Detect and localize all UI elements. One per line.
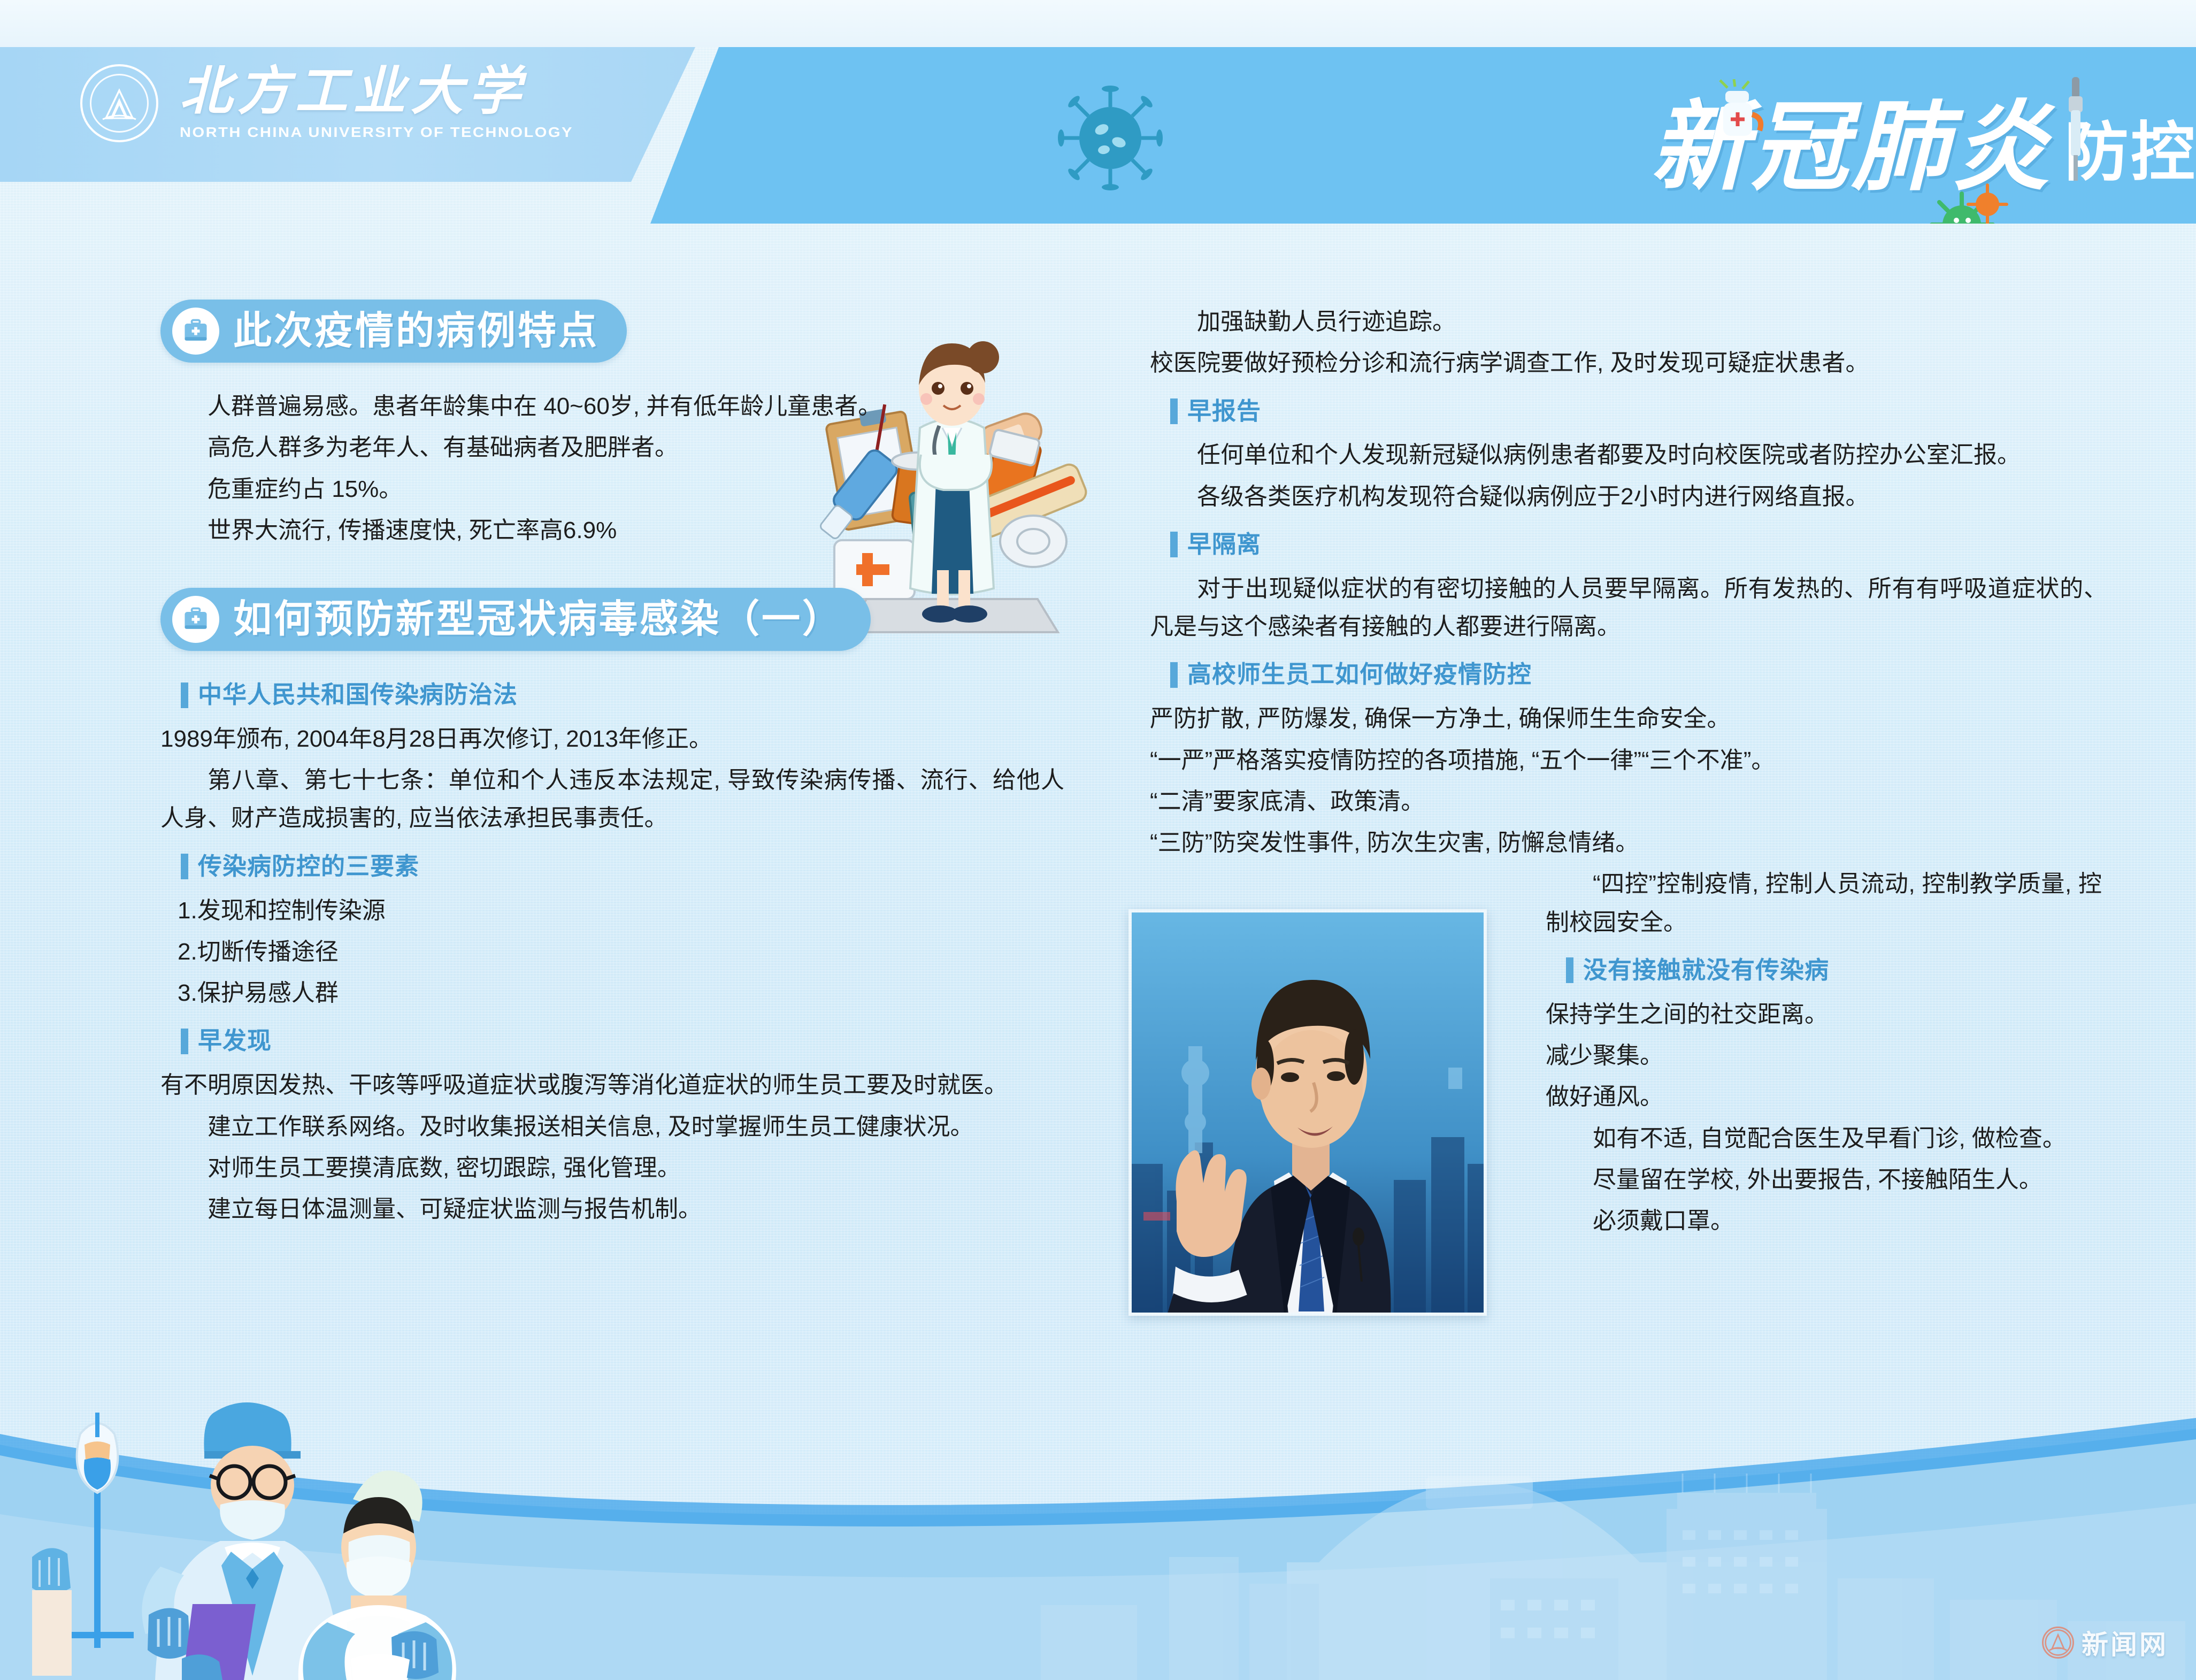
paragraph: 危重症约占 15%。 — [160, 470, 915, 508]
medical-bag-icon — [172, 308, 219, 355]
subhead-label: 中华人民共和国传染病防治法 — [198, 676, 518, 715]
case-features-body: 人群普遍易感。患者年龄集中在 40~60岁, 并有低年龄儿童患者。 高危人群多为… — [160, 387, 915, 549]
paragraph: 对于出现疑似症状的有密切接触的人员要早隔离。所有发热的、所有有呼吸道症状的、凡是… — [1150, 570, 2107, 646]
medical-bag-glyph — [181, 316, 211, 346]
subhead-bar-icon — [1170, 532, 1178, 557]
text-beside-photo: “四控”控制疫情, 控制人员流动, 控制教学质量, 控制校园安全。 没有接触就没… — [1546, 865, 2102, 1240]
subhead-early-report: 早报告 — [1170, 392, 2107, 431]
subhead-bar-icon — [1170, 662, 1178, 688]
paragraph: 建立每日体温测量、可疑症状监测与报告机制。 — [160, 1190, 1064, 1228]
subhead-bar-icon — [1566, 957, 1573, 983]
paragraph: 如有不适, 自觉配合医生及早看门诊, 做检查。 — [1546, 1119, 2102, 1157]
subhead-campus-prevention: 高校师生员工如何做好疫情防控 — [1170, 655, 2107, 694]
subhead-label: 没有接触就没有传染病 — [1583, 951, 1829, 990]
paragraph: 加强缺勤人员行迹追踪。 — [1150, 303, 2107, 341]
section-title-prevention: 如何预防新型冠状病毒感染（一） — [233, 600, 843, 639]
subhead-bar-icon — [181, 682, 188, 708]
subhead-label: 早隔离 — [1187, 525, 1261, 564]
syringe-icon — [2057, 77, 2094, 184]
subhead-three-elements: 传染病防控的三要素 — [181, 847, 1064, 886]
subhead-bar-icon — [181, 1029, 188, 1054]
left-column: 此次疫情的病例特点 人群普遍易感。患者年龄集中在 40~60岁, 并有低年龄儿童… — [160, 300, 1064, 1231]
section-header-prevention: 如何预防新型冠状病毒感染（一） — [160, 588, 871, 651]
paragraph: 各级各类医疗机构发现符合疑似病例应于2小时内进行网络直报。 — [1150, 478, 2107, 516]
university-name-en: NORTH CHINA UNIVERSITY OF TECHNOLOGY — [180, 124, 573, 141]
prevention-body: 中华人民共和国传染病防治法 1989年颁布, 2004年8月28日再次修订, 2… — [160, 676, 1064, 1228]
no-entry-icon — [2190, 108, 2196, 188]
list-item: 1.发现和控制传染源 — [178, 892, 1064, 930]
paragraph: “四控”控制疫情, 控制人员流动, 控制教学质量, 控制校园安全。 — [1546, 865, 2102, 941]
paragraph: 建立工作联系网络。及时收集报送相关信息, 及时掌握师生员工健康状况。 — [160, 1108, 1064, 1146]
paragraph: 校医院要做好预检分诊和流行病学调查工作, 及时发现可疑症状患者。 — [1150, 344, 2107, 382]
section-title-case-features: 此次疫情的病例特点 — [233, 312, 599, 350]
paragraph: 有不明原因发热、干咳等呼吸道症状或腹泻等消化道症状的师生员工要及时就医。 — [160, 1066, 1064, 1104]
medical-bag-glyph — [181, 604, 211, 634]
university-crest-icon — [80, 64, 158, 142]
subhead-label: 高校师生员工如何做好疫情防控 — [1187, 655, 1532, 694]
crest-mountain-icon — [98, 88, 140, 121]
university-name-cn: 北方工业大学 — [180, 66, 531, 119]
top-white-strip — [0, 0, 2196, 47]
subhead-infectious-disease-law: 中华人民共和国传染病防治法 — [181, 676, 1064, 715]
paragraph: 世界大流行, 传播速度快, 死亡率高6.9% — [160, 511, 915, 549]
paragraph: “三防”防突发性事件, 防次生灾害, 防懈怠情绪。 — [1150, 824, 2107, 862]
paragraph: “一严”严格落实疫情防控的各项措施, “五个一律”“三个不准”。 — [1150, 741, 2107, 779]
subhead-label: 早发现 — [198, 1022, 272, 1061]
subhead-early-detection: 早发现 — [181, 1022, 1064, 1061]
paragraph: 1989年颁布, 2004年8月28日再次修订, 2013年修正。 — [160, 720, 1064, 758]
list-item: 3.保护易感人群 — [178, 974, 1064, 1012]
university-identity: 北方工业大学 NORTH CHINA UNIVERSITY OF TECHNOL… — [80, 64, 531, 142]
virus-icon — [1057, 85, 1164, 191]
paragraph: 减少聚集。 — [1546, 1037, 2102, 1075]
expert-interview-photo — [1128, 909, 1487, 1316]
paragraph: 严防扩散, 严防爆发, 确保一方净土, 确保师生生命安全。 — [1150, 700, 2107, 738]
section-header-case-features: 此次疫情的病例特点 — [160, 300, 627, 363]
paragraph: 尽量留在学校, 外出要报告, 不接触陌生人。 — [1546, 1161, 2102, 1199]
subhead-early-isolation: 早隔离 — [1170, 525, 2107, 564]
medical-bag-icon — [172, 596, 219, 643]
subhead-label: 传染病防控的三要素 — [198, 847, 419, 886]
paragraph: 必须戴口罩。 — [1546, 1202, 2102, 1240]
paragraph: “二清”要家底清、政策清。 — [1150, 783, 2107, 820]
paragraph: 做好通风。 — [1546, 1078, 2102, 1116]
expert-photo-graphic — [1132, 912, 1487, 1316]
paragraph: 对师生员工要摸清底数, 密切跟踪, 强化管理。 — [160, 1149, 1064, 1187]
paragraph: 人群普遍易感。患者年龄集中在 40~60岁, 并有低年龄儿童患者。 — [160, 387, 915, 425]
subhead-bar-icon — [1170, 398, 1178, 424]
subhead-no-contact: 没有接触就没有传染病 — [1566, 951, 2102, 990]
main-header-banner: 新冠肺炎 防控知识 — [650, 47, 2196, 224]
paragraph: 第八章、第七十七条：单位和个人违反本法规定, 导致传染病传播、流行、给他人人身、… — [160, 761, 1064, 838]
hand-sanitizer-icon — [1709, 79, 1773, 159]
list-item: 2.切断传播途径 — [178, 933, 1064, 971]
paragraph: 保持学生之间的社交距离。 — [1546, 995, 2102, 1033]
paragraph: 高危人群多为老年人、有基础病者及肥胖者。 — [160, 428, 915, 466]
subhead-label: 早报告 — [1187, 392, 1261, 431]
paragraph: 任何单位和个人发现新冠疑似病例患者都要及时向校医院或者防控办公室汇报。 — [1150, 436, 2107, 474]
subhead-bar-icon — [181, 854, 188, 879]
